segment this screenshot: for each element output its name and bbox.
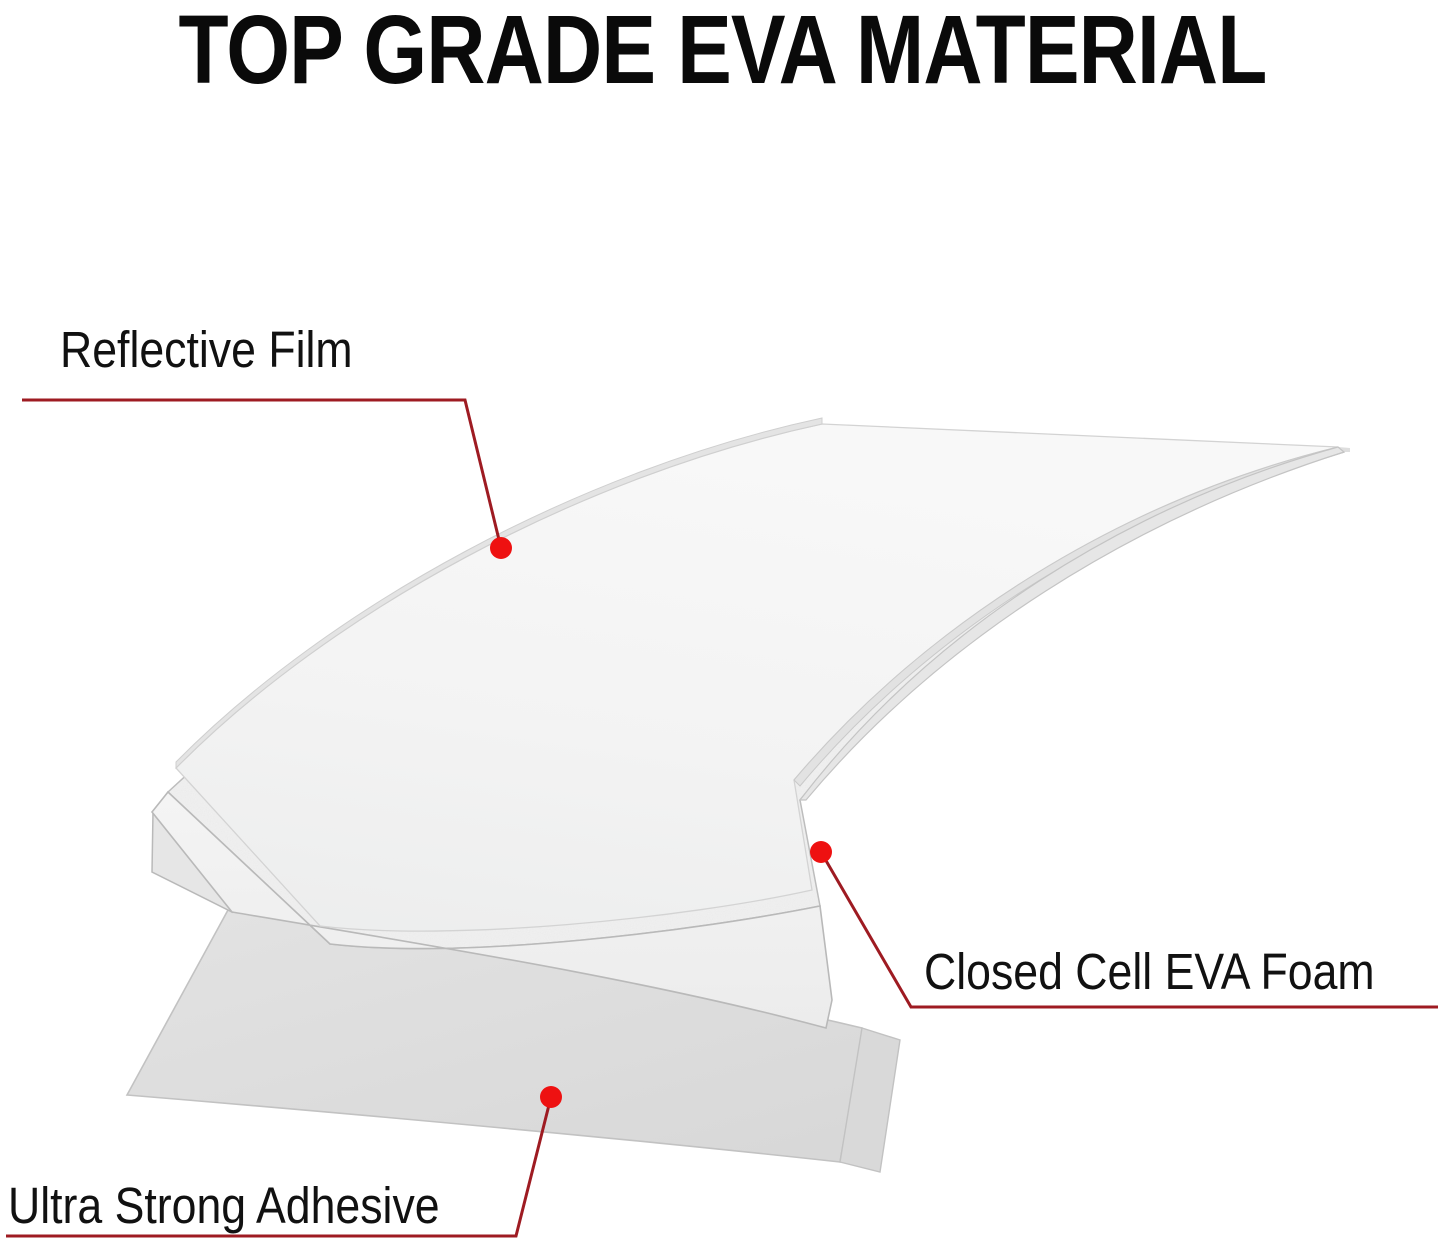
callout-label-adhesive: Ultra Strong Adhesive xyxy=(8,1180,440,1232)
callout-label-reflective-film: Reflective Film xyxy=(60,324,353,376)
callout-dot-eva-foam xyxy=(810,841,832,863)
callout-leader-reflective-film xyxy=(22,400,512,559)
callout-dot-adhesive xyxy=(540,1086,562,1108)
callout-dot-reflective-film xyxy=(490,537,512,559)
diagram-stage: TOP GRADE EVA MATERIAL xyxy=(0,0,1445,1243)
eva-material-illustration xyxy=(0,0,1445,1243)
reflective-film-layer xyxy=(176,418,1350,931)
callout-label-eva-foam: Closed Cell EVA Foam xyxy=(924,946,1375,998)
